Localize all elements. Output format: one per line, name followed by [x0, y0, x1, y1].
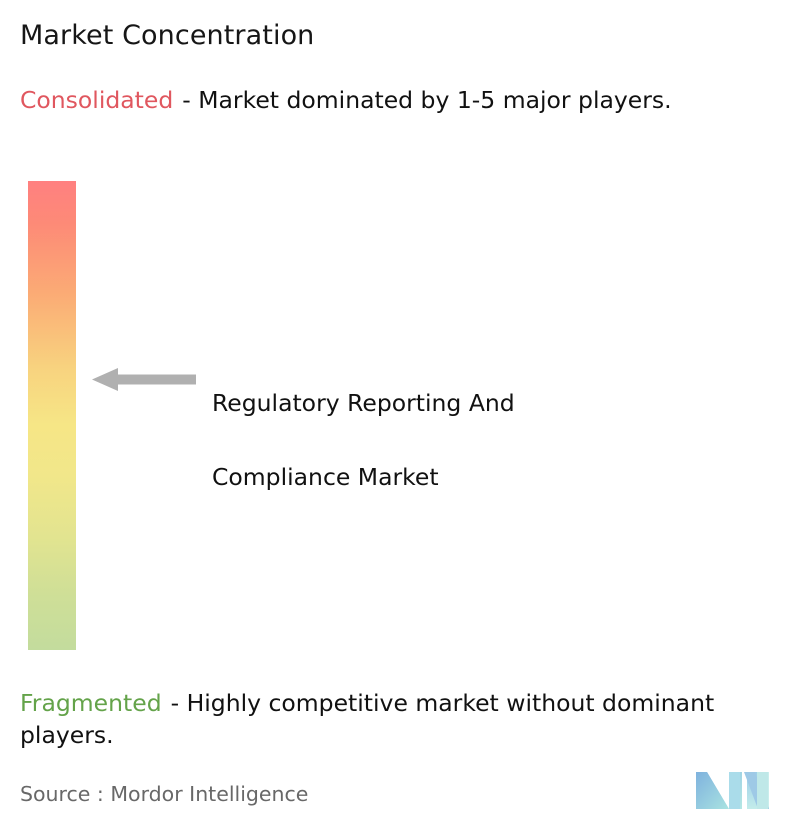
market-position-arrow [92, 367, 196, 392]
fragmented-keyword: Fragmented [20, 689, 162, 717]
series-annotation-label: Regulatory Reporting And Compliance Mark… [212, 348, 515, 534]
source-attribution: Source : Mordor Intelligence [20, 782, 308, 806]
market-concentration-infographic: Market Concentration Consolidated- Marke… [0, 0, 796, 834]
series-annotation-line-2: Compliance Market [212, 459, 515, 496]
concentration-gradient-bar [28, 181, 76, 650]
mordor-logo-icon [694, 768, 772, 812]
series-annotation-line-1: Regulatory Reporting And [212, 385, 515, 422]
consolidated-legend: Consolidated- Market dominated by 1-5 ma… [20, 84, 776, 116]
left-arrow-icon [92, 367, 196, 392]
fragmented-legend: Fragmented- Highly competitive market wi… [20, 687, 786, 751]
mordor-intelligence-logo [694, 768, 772, 812]
page-title: Market Concentration [20, 20, 314, 52]
consolidated-description: - Market dominated by 1-5 major players. [182, 86, 671, 114]
consolidated-keyword: Consolidated [20, 86, 173, 114]
